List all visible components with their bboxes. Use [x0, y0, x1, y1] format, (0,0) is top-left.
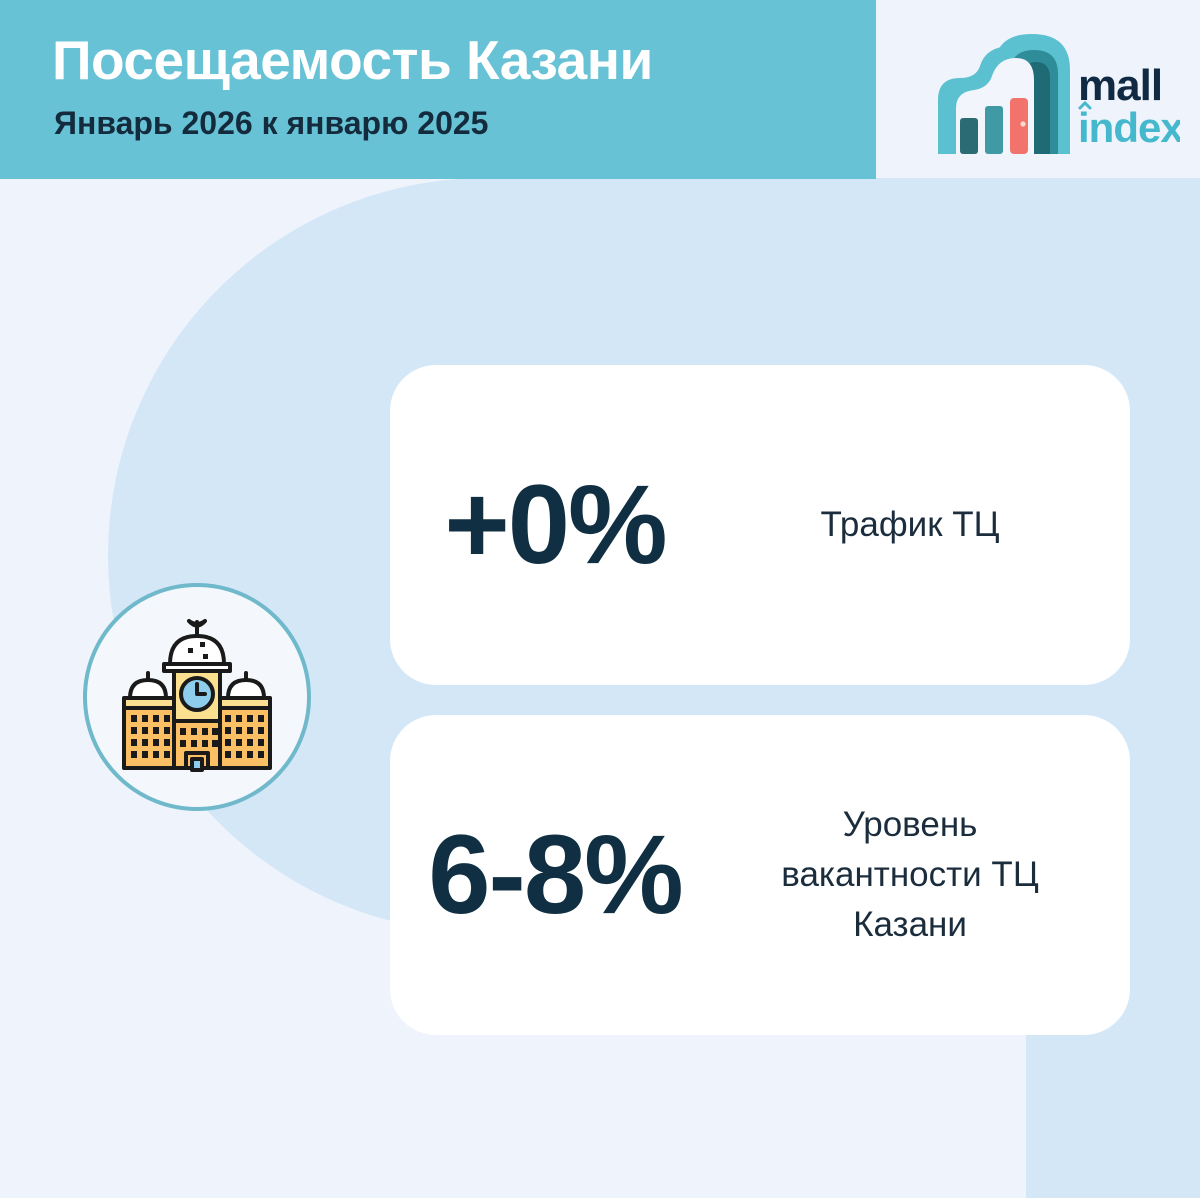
kazan-city-hall-icon	[104, 614, 290, 780]
stat-label-line: Казани	[720, 900, 1100, 950]
stat-label-line: вакантности ТЦ	[720, 850, 1100, 900]
page-subtitle: Январь 2026 к январю 2025	[54, 105, 488, 142]
logo-bar-2	[985, 106, 1003, 154]
entrance-door-icon	[192, 759, 202, 770]
stat-value: 6-8%	[390, 819, 720, 931]
left-dome-icon	[130, 680, 166, 698]
stat-label-line: Уровень	[720, 800, 1100, 850]
logo-svg: mall index	[930, 22, 1180, 162]
central-dome-icon	[170, 636, 224, 664]
logo-word-index: index	[1078, 104, 1180, 151]
stat-card-traffic: +0% Трафик ТЦ	[390, 365, 1130, 685]
stat-label: Трафик ТЦ	[720, 500, 1130, 550]
logo-word-mall: mall	[1078, 61, 1162, 110]
logo-bar-3	[1010, 98, 1028, 154]
stat-label-line: Трафик ТЦ	[720, 500, 1100, 550]
header-band: Посещаемость Казани Январь 2026 к январю…	[0, 0, 876, 179]
stat-value: +0%	[390, 469, 720, 581]
stat-label: Уровень вакантности ТЦ Казани	[720, 800, 1130, 949]
stat-card-vacancy: 6-8% Уровень вакантности ТЦ Казани	[390, 715, 1130, 1035]
city-icon-badge	[83, 583, 311, 811]
infographic-canvas: Посещаемость Казани Январь 2026 к январю…	[0, 0, 1200, 1198]
logo-door-knob	[1020, 121, 1025, 126]
mall-index-logo: mall index	[930, 22, 1180, 162]
logo-bar-1	[960, 118, 978, 154]
page-title: Посещаемость Казани	[52, 28, 653, 92]
right-dome-icon	[228, 680, 264, 698]
